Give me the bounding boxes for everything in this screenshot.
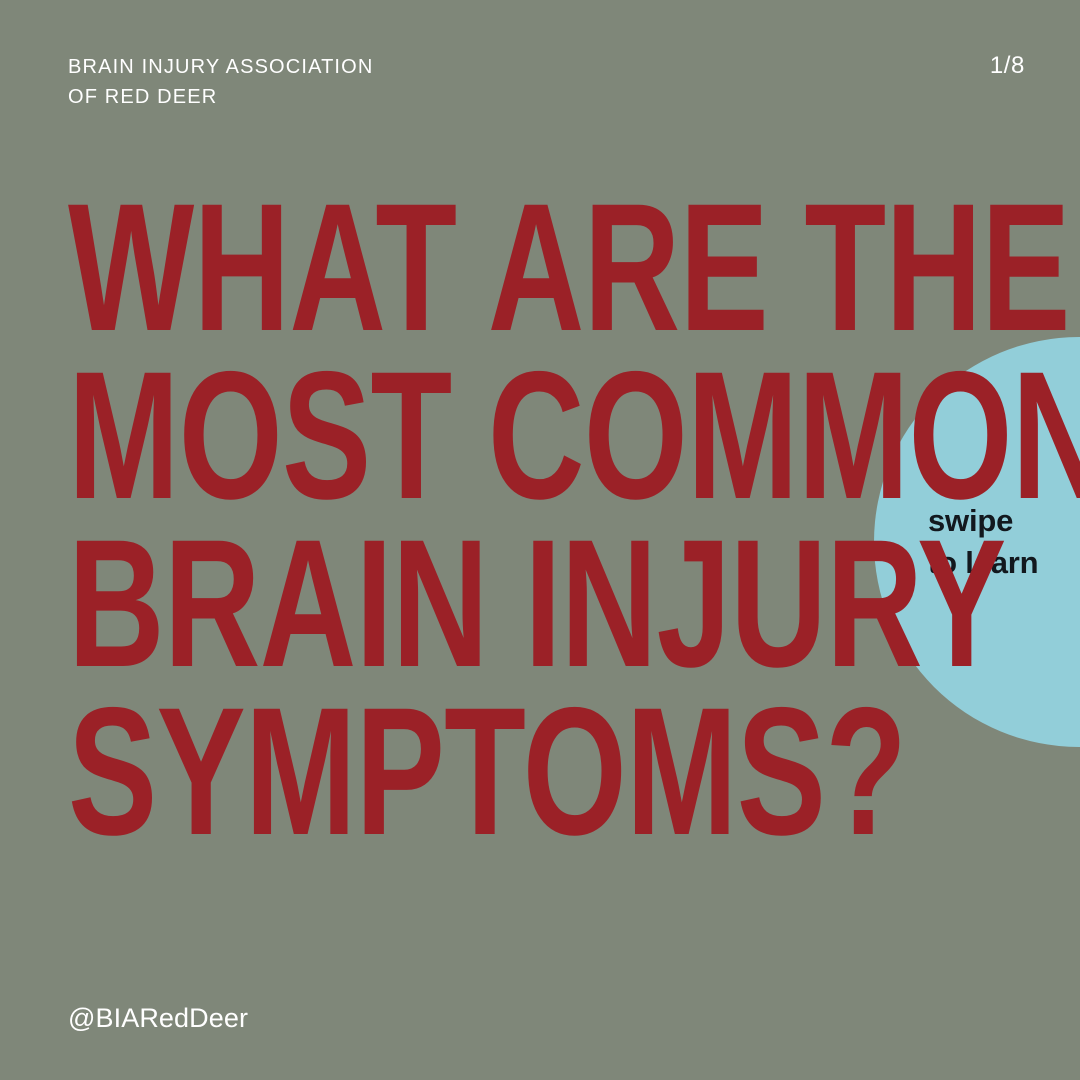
slide-header: BRAIN INJURY ASSOCIATION OF RED DEER 1/8 xyxy=(0,0,1080,150)
page-counter: 1/8 xyxy=(990,52,1025,78)
headline-line-1: WHAT ARE THE xyxy=(68,183,649,351)
page-title: WHAT ARE THE MOST COMMON BRAIN INJURY SY… xyxy=(68,183,858,855)
social-handle: @BIARedDeer xyxy=(68,1005,248,1032)
headline-line-2: MOST COMMON xyxy=(68,351,649,519)
headline-line-4: SYMPTOMS? xyxy=(68,687,649,855)
organization-name: BRAIN INJURY ASSOCIATION OF RED DEER xyxy=(68,52,373,113)
carousel-slide: BRAIN INJURY ASSOCIATION OF RED DEER 1/8… xyxy=(0,0,1080,1080)
headline-line-3: BRAIN INJURY xyxy=(68,519,649,687)
